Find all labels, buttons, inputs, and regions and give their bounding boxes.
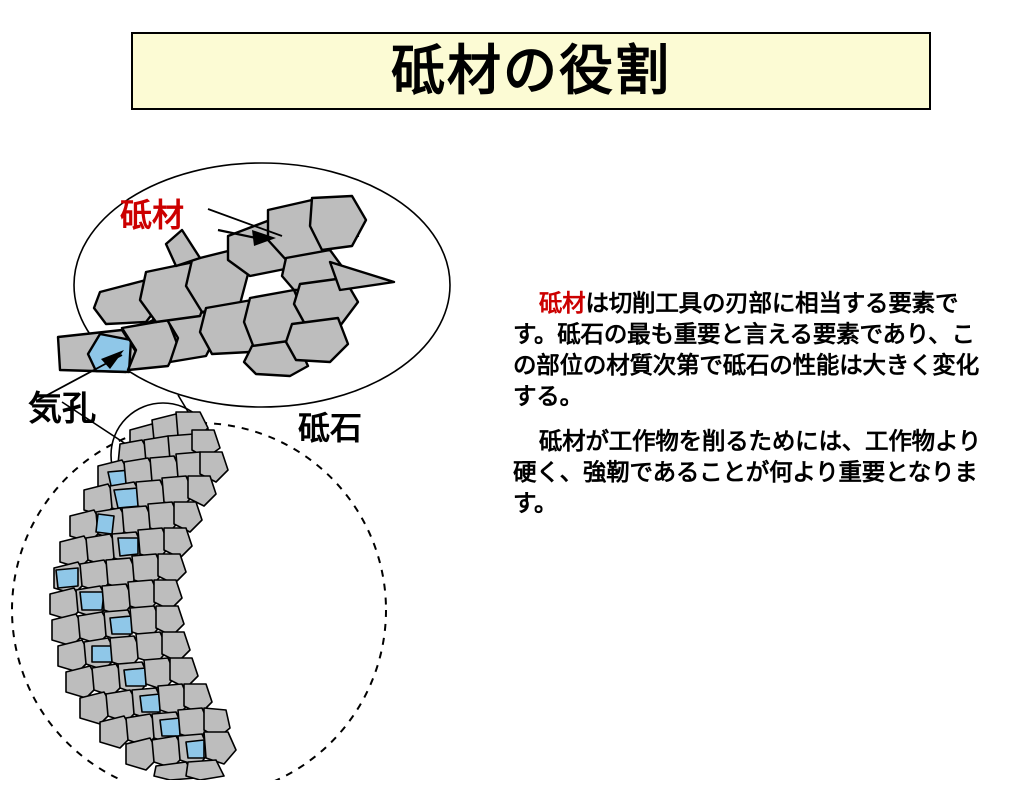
pore-shape	[110, 616, 132, 634]
slide-canvas: 砥材の役割	[0, 0, 1024, 768]
figure-container	[0, 140, 500, 780]
slide-title-box: 砥材の役割	[131, 32, 931, 110]
body-keyword-abrasive: 砥材	[539, 290, 586, 316]
pore-shape	[160, 718, 180, 736]
pore-shape	[96, 514, 114, 534]
figure-label-abrasive: 砥材	[120, 199, 184, 231]
pore-shape	[140, 694, 160, 712]
grain-shape	[186, 760, 224, 780]
pore-shape	[186, 740, 204, 758]
wheel-grain-band	[50, 412, 236, 780]
page-title: 砥材の役割	[391, 44, 671, 98]
grain-shape	[204, 732, 236, 764]
body-paragraph-1: 砥材は切削工具の刃部に相当する要素です。砥石の最も重要と言える要素であり、この部…	[513, 288, 991, 412]
figure-label-pore: 気孔	[28, 392, 96, 426]
pore-shape	[124, 668, 146, 686]
grinding-wheel-diagram-svg	[0, 140, 500, 780]
pore-shape	[118, 538, 138, 556]
body-paragraph-2: 砥材が工作物を削るためには、工作物より硬く、強靭であることが何より重要となります…	[513, 426, 991, 519]
body-text-block: 砥材は切削工具の刃部に相当する要素です。砥石の最も重要と言える要素であり、この部…	[513, 288, 991, 519]
figure-label-wheel: 砥石	[298, 412, 362, 444]
pore-shape	[56, 568, 78, 588]
pore-shape	[80, 592, 104, 610]
